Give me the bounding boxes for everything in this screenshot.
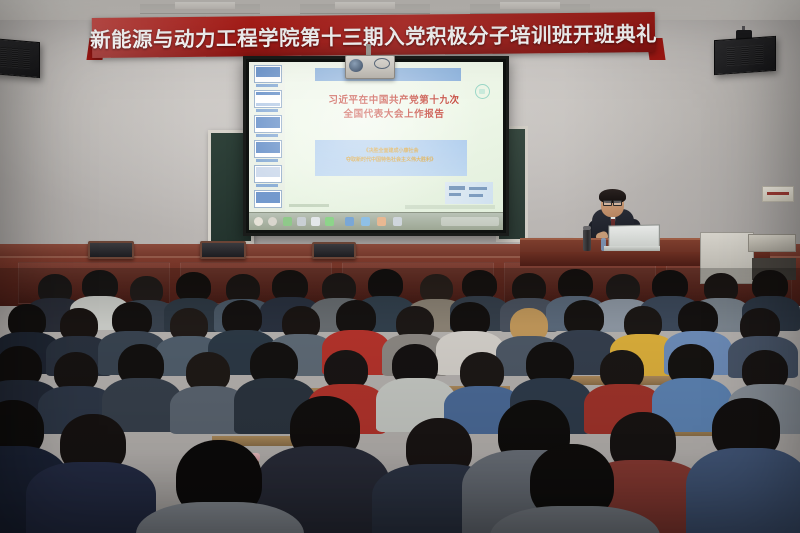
slide-status-row <box>405 205 495 209</box>
slide-title-line1: 习近平在中国共产党第十九次 <box>285 94 503 108</box>
thumbnail-label <box>256 134 278 137</box>
wall-speaker-left <box>0 38 40 78</box>
document-icon[interactable] <box>377 217 386 226</box>
slide-subtitle-line2: 夺取新时代中国特色社会主义伟大胜利》 <box>315 156 467 165</box>
slide-title-line2: 全国代表大会上作报告 <box>285 108 503 122</box>
wall-speaker-right <box>714 36 776 75</box>
stage-chair <box>88 241 134 259</box>
audience-area <box>0 268 800 533</box>
slide-thumbnail[interactable] <box>254 190 282 208</box>
window-icon[interactable] <box>361 217 370 226</box>
slide-title: 习近平在中国共产党第十九次 全国代表大会上作报告 <box>285 94 503 121</box>
stage-chair <box>200 241 246 259</box>
thumbnail-label <box>256 109 278 112</box>
start-button-icon[interactable] <box>254 217 263 226</box>
system-tray[interactable] <box>441 217 499 226</box>
ceiling-light <box>500 2 560 9</box>
active-slide[interactable]: 习近平在中国共产党第十九次 全国代表大会上作报告 《决胜全面建成小康社会 夺取新… <box>285 62 503 213</box>
slide-footnote <box>289 204 329 207</box>
thumbnail-label <box>256 84 278 87</box>
slide-thumbnail[interactable] <box>254 115 282 133</box>
explorer-icon[interactable] <box>283 217 292 226</box>
ceiling-light <box>175 2 235 9</box>
projector-cable <box>374 58 390 69</box>
slide-thumbnail-rail[interactable] <box>249 62 286 213</box>
thumbnail-label <box>256 184 278 187</box>
slide-thumbnail[interactable] <box>254 165 282 183</box>
browser-icon[interactable] <box>297 217 306 226</box>
cabinet-device <box>748 234 796 252</box>
slide-thumbnail[interactable] <box>254 90 282 108</box>
folder-icon[interactable] <box>311 217 320 226</box>
presentation-app-icon[interactable] <box>345 217 354 226</box>
screen-surface: 习近平在中国共产党第十九次 全国代表大会上作报告 《决胜全面建成小康社会 夺取新… <box>249 62 503 230</box>
banner-text: 新能源与动力工程学院第十三期入党积极分子培训班开班典礼 <box>92 12 655 58</box>
wall-placard <box>762 186 794 202</box>
thermos-flask <box>583 229 591 251</box>
ceremony-banner: 新能源与动力工程学院第十三期入党积极分子培训班开班典礼 <box>92 12 655 58</box>
slide-watermark-icon <box>475 84 490 99</box>
slide-thumbnail[interactable] <box>254 65 282 83</box>
projection-screen: 习近平在中国共产党第十九次 全国代表大会上作报告 《决胜全面建成小康社会 夺取新… <box>243 56 509 236</box>
ceiling-light <box>335 2 395 9</box>
slide-thumbnail[interactable] <box>254 140 282 158</box>
laptop-base <box>604 246 660 251</box>
app-icon[interactable] <box>325 217 334 226</box>
search-icon[interactable] <box>268 217 277 226</box>
slide-subtitle-line1: 《决胜全面建成小康社会 <box>315 147 467 156</box>
slide-diagram-graphic <box>445 182 493 204</box>
window-icon[interactable] <box>393 217 402 226</box>
slide-subtitle-box: 《决胜全面建成小康社会 夺取新时代中国特色社会主义伟大胜利》 <box>315 140 467 176</box>
projector-lens-icon <box>349 59 363 72</box>
eyeglasses-icon <box>603 200 622 204</box>
lecture-hall-photo: 新能源与动力工程学院第十三期入党积极分子培训班开班典礼 <box>0 0 800 533</box>
thumbnail-label <box>256 159 278 162</box>
os-taskbar[interactable] <box>249 212 503 230</box>
stage-chair <box>312 242 356 259</box>
